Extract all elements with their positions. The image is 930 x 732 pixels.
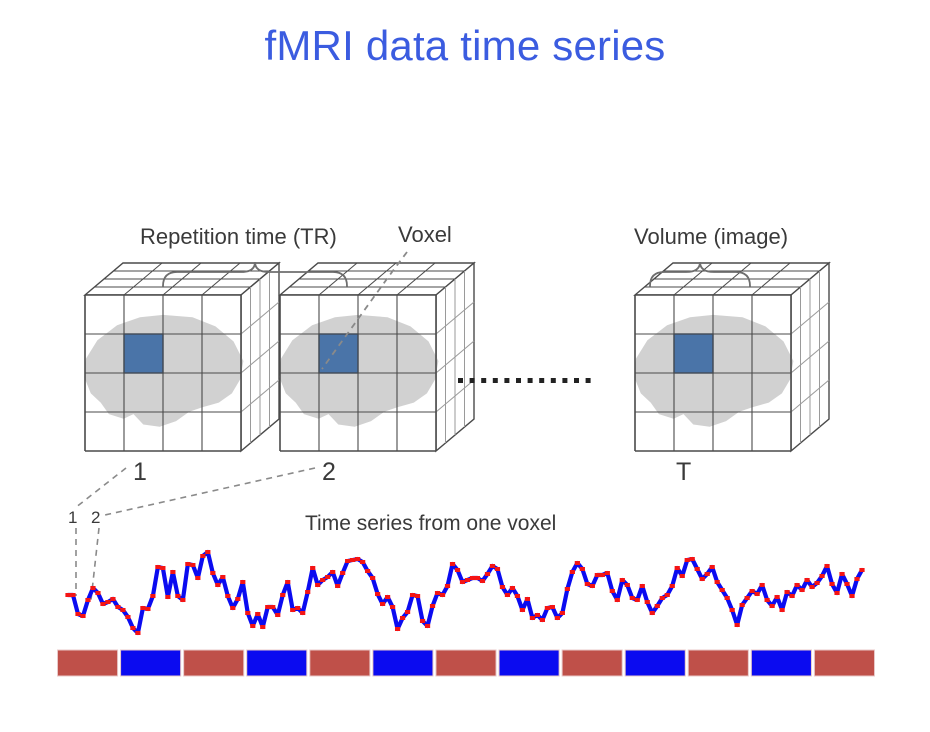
time-series-marker: [495, 567, 500, 571]
diagram-graphics: [0, 0, 930, 732]
cube-right-gridline: [241, 302, 279, 334]
time-series-marker: [70, 593, 75, 597]
time-series-marker: [180, 598, 185, 602]
time-series-marker: [430, 604, 435, 608]
cube-label-2: 2: [322, 458, 336, 487]
design-block-rest: [184, 650, 244, 676]
page-title: fMRI data time series: [0, 22, 930, 70]
label-volume-image: Volume (image): [634, 224, 788, 250]
cube-right-gridline: [436, 380, 474, 412]
cube-top-gridline: [163, 263, 201, 295]
brain-silhouette: [279, 315, 438, 427]
time-series-marker: [475, 576, 480, 580]
time-series-marker: [530, 616, 535, 620]
time-series-marker: [650, 611, 655, 615]
time-series-marker: [80, 614, 85, 618]
time-series-marker: [285, 580, 290, 584]
time-series-marker: [700, 577, 705, 581]
time-series-marker: [355, 557, 360, 561]
time-series-marker: [740, 603, 745, 607]
time-series-marker: [65, 593, 70, 597]
time-series-marker: [525, 597, 530, 601]
cube-top-face: [85, 263, 279, 295]
design-block-task: [247, 650, 307, 676]
time-series-marker: [400, 616, 405, 620]
time-series-marker: [410, 593, 415, 597]
time-series-marker: [605, 571, 610, 575]
time-series-marker: [595, 573, 600, 577]
design-block-task: [499, 650, 559, 676]
time-series-marker: [140, 606, 145, 610]
time-series-marker: [375, 592, 380, 596]
brace-volume: [650, 262, 750, 286]
time-series-marker: [250, 624, 255, 628]
cube-top-gridline: [397, 263, 435, 295]
time-series-marker: [255, 612, 260, 616]
time-series-marker: [770, 604, 775, 608]
time-series-marker: [809, 585, 814, 589]
time-series-marker: [505, 593, 510, 597]
time-series-marker: [360, 560, 365, 564]
time-series-marker: [725, 596, 730, 600]
time-series-marker: [590, 584, 595, 588]
tick2-dropline: [91, 528, 99, 600]
time-series-marker: [804, 578, 809, 582]
time-series-marker: [695, 567, 700, 571]
cube-front-face: [85, 295, 241, 451]
time-series-marker: [135, 631, 140, 635]
time-series-marker: [814, 581, 819, 585]
time-series-marker: [300, 611, 305, 615]
time-series-marker: [640, 584, 645, 588]
leader-cube1-to-tick1: [75, 468, 126, 508]
time-series-marker: [395, 627, 400, 631]
time-series-marker: [380, 602, 385, 606]
time-series-marker: [260, 625, 265, 629]
brain-silhouette: [634, 315, 793, 427]
time-series-marker: [390, 605, 395, 609]
time-series-marker: [575, 561, 580, 565]
design-block-task: [751, 650, 811, 676]
ellipsis-dot: [562, 378, 567, 383]
time-series-marker: [735, 623, 740, 627]
time-series-marker: [849, 594, 854, 598]
design-block-rest: [688, 650, 748, 676]
time-series-marker: [485, 572, 490, 576]
label-voxel: Voxel: [398, 222, 452, 248]
time-series-marker: [839, 572, 844, 576]
time-series-marker: [95, 591, 100, 595]
time-series-marker: [335, 584, 340, 588]
time-series-marker: [500, 585, 505, 589]
time-series-marker: [755, 592, 760, 596]
time-series-marker: [120, 608, 125, 612]
time-series-marker: [580, 567, 585, 571]
cube-right-face: [241, 263, 279, 451]
time-series-marker: [510, 586, 515, 590]
time-series-marker: [784, 590, 789, 594]
time-series-marker: [145, 607, 150, 611]
time-series-marker: [655, 604, 660, 608]
time-series-marker: [165, 595, 170, 599]
slide-canvas: fMRI data time series Repetition time (T…: [0, 0, 930, 732]
time-series-marker: [745, 596, 750, 600]
ellipsis-dot: [504, 378, 509, 383]
time-series-marker: [685, 558, 690, 562]
time-series-marker: [750, 589, 755, 593]
time-series-marker: [720, 588, 725, 592]
time-series-marker: [365, 569, 370, 573]
time-series-marker: [305, 590, 310, 594]
time-series-marker: [630, 596, 635, 600]
time-series-marker: [245, 611, 250, 615]
time-series-marker: [235, 597, 240, 601]
design-block-rest: [562, 650, 622, 676]
time-series-marker: [350, 558, 355, 562]
design-block-task: [121, 650, 181, 676]
time-series-marker: [110, 597, 115, 601]
design-block-rest: [436, 650, 496, 676]
time-series-marker: [620, 578, 625, 582]
time-series-marker: [280, 593, 285, 597]
ellipsis-dot: [458, 378, 463, 383]
time-series-marker: [829, 582, 834, 586]
cube-right-gridline: [241, 380, 279, 412]
time-series-marker: [844, 582, 849, 586]
time-series-marker: [660, 596, 665, 600]
cube-right-gridline: [436, 302, 474, 334]
cube-label-1: 1: [133, 458, 147, 487]
time-series-marker: [200, 554, 205, 558]
time-series-marker: [824, 564, 829, 568]
brace-repetition-time: [163, 262, 347, 286]
highlighted-voxel: [319, 334, 358, 373]
time-series-marker: [600, 573, 605, 577]
time-series-marker: [545, 606, 550, 610]
time-series-marker: [195, 576, 200, 580]
time-series-marker: [690, 557, 695, 561]
cube-volume-2: [279, 263, 474, 451]
time-series-marker: [535, 613, 540, 617]
time-series-marker: [799, 588, 804, 592]
time-series-marker: [540, 618, 545, 622]
time-series-marker: [670, 584, 675, 588]
label-repetition-time: Repetition time (TR): [140, 224, 337, 250]
time-series-marker: [150, 594, 155, 598]
time-series-marker: [680, 574, 685, 578]
time-series-marker: [240, 580, 245, 584]
cube-top-gridline: [674, 263, 712, 295]
brain-silhouette: [84, 315, 243, 427]
time-series-marker: [340, 571, 345, 575]
cube-right-gridline: [791, 341, 829, 373]
time-series-marker: [615, 598, 620, 602]
cube-right-gridline: [791, 380, 829, 412]
cube-right-gridline: [791, 302, 829, 334]
cube-front-face: [280, 295, 436, 451]
time-series-marker: [730, 608, 735, 612]
highlighted-voxel: [674, 334, 713, 373]
time-series-marker: [789, 594, 794, 598]
timepoint-label-1: 1: [68, 508, 77, 528]
time-series-marker: [550, 605, 555, 609]
time-series-marker: [715, 580, 720, 584]
time-series-marker: [415, 594, 420, 598]
cube-top-face: [635, 263, 829, 295]
time-series-marker: [490, 564, 495, 568]
design-block-task: [373, 650, 433, 676]
time-series-marker: [215, 583, 220, 587]
cube-top-face: [280, 263, 474, 295]
design-block-task: [625, 650, 685, 676]
ellipsis-dot: [470, 378, 475, 383]
time-series-marker: [175, 594, 180, 598]
time-series-marker: [560, 611, 565, 615]
time-series-marker: [565, 587, 570, 591]
time-series-marker: [834, 591, 839, 595]
time-series-marker: [210, 571, 215, 575]
time-series-marker: [320, 578, 325, 582]
time-series-marker: [710, 565, 715, 569]
time-series-marker: [265, 605, 270, 609]
time-series-marker: [105, 600, 110, 604]
time-series-marker: [520, 608, 525, 612]
time-series-marker: [760, 583, 765, 587]
time-series-marker: [155, 565, 160, 569]
time-series-marker: [470, 576, 475, 580]
ellipsis-dot: [586, 378, 591, 383]
time-series-marker: [345, 559, 350, 563]
cube-right-gridline: [436, 341, 474, 373]
cube-top-gridline: [713, 263, 751, 295]
ellipsis-dot: [528, 378, 533, 383]
time-series-marker: [220, 575, 225, 579]
time-series-marker: [445, 584, 450, 588]
time-series-marker: [585, 582, 590, 586]
ellipsis-dot: [551, 378, 556, 383]
cube-volume-T: [634, 263, 829, 451]
cube-volume-1: [84, 263, 279, 451]
time-series-marker: [420, 619, 425, 623]
voxel-leader-line: [322, 252, 407, 369]
cube-top-gridline: [358, 263, 396, 295]
time-series-marker: [325, 575, 330, 579]
time-series-marker: [405, 610, 410, 614]
design-block-rest: [310, 650, 370, 676]
cube-right-gridline: [241, 341, 279, 373]
highlighted-voxel: [124, 334, 163, 373]
cube-right-face: [791, 263, 829, 451]
time-series-marker: [435, 591, 440, 595]
time-series-marker: [645, 600, 650, 604]
ellipsis-dot: [539, 378, 544, 383]
time-series-marker: [480, 579, 485, 583]
time-series-marker: [190, 563, 195, 567]
time-series-marker: [185, 562, 190, 566]
time-series-marker: [270, 605, 275, 609]
time-series-marker: [780, 608, 785, 612]
cube-top-gridline: [124, 263, 162, 295]
cube-right-face: [436, 263, 474, 451]
time-series-marker: [205, 550, 210, 554]
time-series-marker: [859, 568, 864, 572]
time-series-line: [68, 552, 862, 633]
time-series-marker: [705, 572, 710, 576]
time-series-marker: [819, 574, 824, 578]
time-series-marker: [100, 602, 105, 606]
time-series-marker: [515, 594, 520, 598]
time-series-marker: [370, 576, 375, 580]
time-series-marker: [675, 566, 680, 570]
cube-top-gridline: [202, 263, 240, 295]
ellipsis-dot: [516, 378, 521, 383]
cube-front-face: [635, 295, 791, 451]
time-series-marker: [635, 598, 640, 602]
time-series-marker: [170, 570, 175, 574]
time-series-marker: [230, 606, 235, 610]
time-series-marker: [425, 624, 430, 628]
time-series-marker: [295, 606, 300, 610]
time-series-marker: [310, 566, 315, 570]
time-series-marker: [775, 595, 780, 599]
time-series-marker: [130, 626, 135, 630]
time-series-marker: [555, 616, 560, 620]
time-series-marker: [85, 598, 90, 602]
time-series-marker: [275, 613, 280, 617]
cube-top-gridline: [752, 263, 790, 295]
time-series-marker: [665, 593, 670, 597]
time-series-marker: [455, 568, 460, 572]
cube-label-T: T: [676, 458, 691, 487]
time-series-marker: [290, 608, 295, 612]
time-series-marker: [75, 612, 80, 616]
time-series-marker: [465, 578, 470, 582]
time-series-marker: [625, 583, 630, 587]
time-series-marker: [315, 583, 320, 587]
time-series-marker: [330, 570, 335, 574]
time-series-marker: [460, 580, 465, 584]
time-series-marker: [450, 562, 455, 566]
time-series-marker: [225, 594, 230, 598]
label-time-series-caption: Time series from one voxel: [305, 512, 556, 536]
ellipsis-dot: [481, 378, 486, 383]
cube-top-gridline: [319, 263, 357, 295]
design-block-rest: [814, 650, 874, 676]
time-series-marker: [570, 570, 575, 574]
ellipsis-dot: [493, 378, 498, 383]
time-series-marker: [160, 566, 165, 570]
time-series-marker: [440, 593, 445, 597]
timepoint-label-2: 2: [91, 508, 100, 528]
time-series-marker: [115, 605, 120, 609]
time-series-marker: [854, 577, 859, 581]
time-series-marker: [794, 583, 799, 587]
time-series-marker: [765, 598, 770, 602]
time-series-marker: [125, 615, 130, 619]
time-series-marker: [385, 595, 390, 599]
time-series-marker: [610, 589, 615, 593]
ellipsis-dot: [574, 378, 579, 383]
design-block-rest: [58, 650, 118, 676]
time-series-marker: [90, 586, 95, 590]
